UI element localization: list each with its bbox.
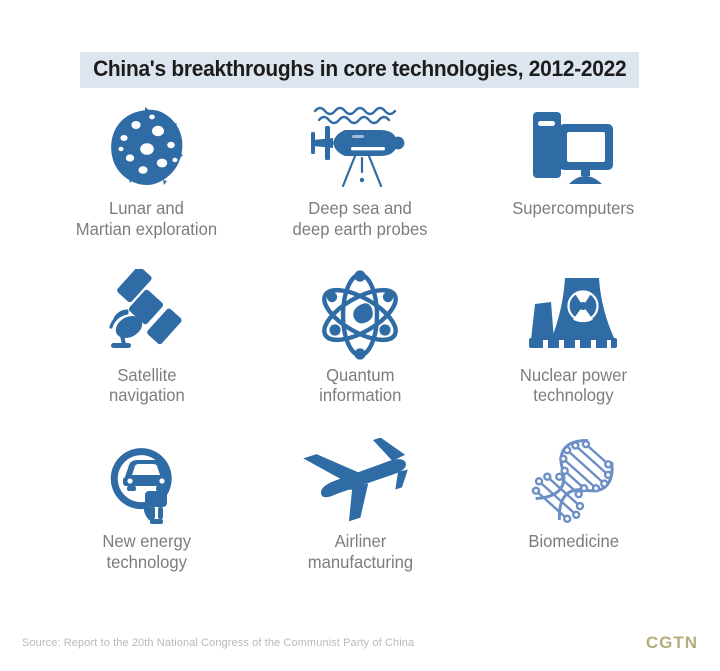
grid-item-supercomputers[interactable]: Supercomputers — [467, 100, 680, 267]
grid-item-label: Quantum information — [319, 365, 401, 406]
icon-container — [307, 100, 413, 196]
icon-container — [527, 100, 619, 196]
icon-container — [301, 433, 419, 529]
grid-item-deep-sea-probes[interactable]: Deep sea and deep earth probes — [253, 100, 466, 267]
moon-crater-icon — [107, 105, 187, 191]
grid-item-airliner-manufacturing[interactable]: Airliner manufacturing — [253, 433, 466, 600]
icon-container — [101, 267, 193, 363]
cgtn-logo: CGTN — [646, 633, 698, 653]
source-note: Source: Report to the 20th National Cong… — [22, 637, 414, 649]
grid-item-label: Deep sea and deep earth probes — [293, 198, 428, 239]
icon-container — [521, 267, 625, 363]
nuclear-cooling-tower-icon — [521, 272, 625, 358]
grid-item-label: Lunar and Martian exploration — [76, 198, 217, 239]
icon-container — [101, 433, 193, 529]
grid-item-nuclear-power[interactable]: Nuclear power technology — [467, 267, 680, 434]
atom-icon — [314, 269, 406, 361]
page-title: China's breakthroughs in core technologi… — [80, 52, 639, 88]
grid-item-label: Biomedicine — [528, 531, 619, 552]
grid-item-biomedicine[interactable]: Biomedicine — [467, 433, 680, 600]
icon-container — [107, 100, 187, 196]
grid-item-quantum-information[interactable]: Quantum information — [253, 267, 466, 434]
satellite-icon — [101, 269, 193, 361]
grid-item-satellite-navigation[interactable]: Satellite navigation — [40, 267, 253, 434]
technology-grid: Lunar and Martian exploration — [40, 100, 680, 600]
grid-item-label: Nuclear power technology — [520, 365, 627, 406]
dna-helix-icon — [527, 435, 619, 527]
grid-item-label: Supercomputers — [512, 198, 634, 219]
icon-container — [527, 433, 619, 529]
grid-item-label: Airliner manufacturing — [307, 531, 412, 572]
grid-item-new-energy-technology[interactable]: New energy technology — [40, 433, 253, 600]
grid-item-label: Satellite navigation — [109, 365, 185, 406]
airplane-icon — [301, 438, 419, 524]
desktop-computer-icon — [527, 106, 619, 190]
title-banner-container: China's breakthroughs in core technologi… — [0, 52, 720, 88]
grid-item-label: New energy technology — [102, 531, 191, 572]
submersible-probe-icon — [307, 102, 413, 194]
grid-item-lunar-martian-exploration[interactable]: Lunar and Martian exploration — [40, 100, 253, 267]
electric-car-plug-icon — [101, 435, 193, 527]
icon-container — [314, 267, 406, 363]
